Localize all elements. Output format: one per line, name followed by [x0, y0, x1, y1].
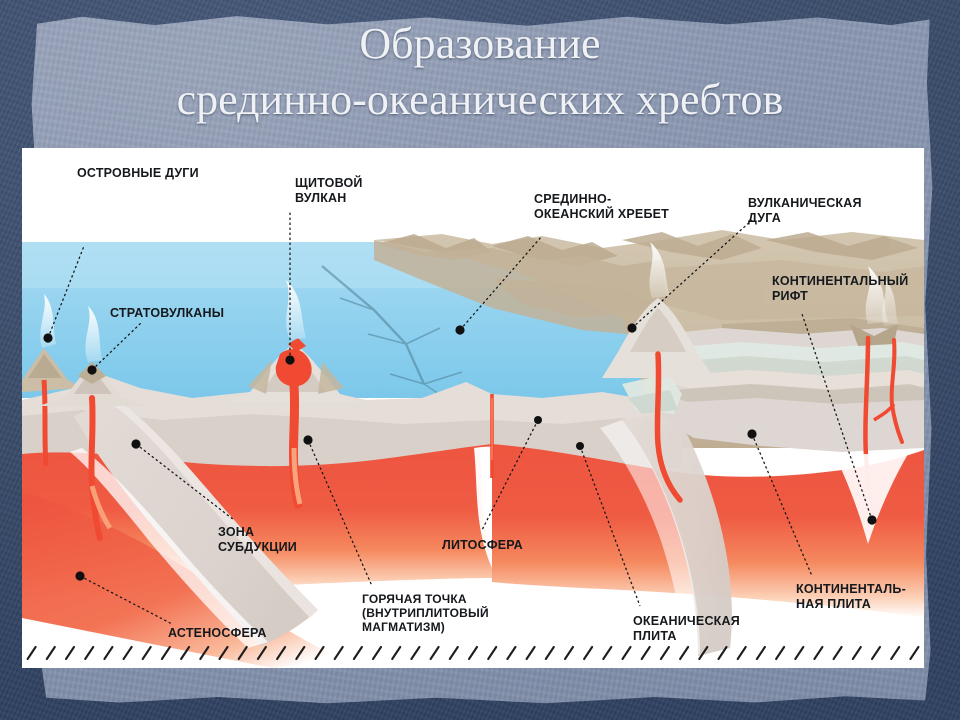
label-hot-spot: ГОРЯЧАЯ ТОЧКА (ВНУТРИПЛИТОВЫЙ МАГМАТИЗМ) [362, 592, 489, 634]
label-island-arcs: ОСТРОВНЫЕ ДУГИ [77, 166, 199, 181]
label-subduction-zone: ЗОНА СУБДУКЦИИ [218, 525, 297, 554]
slide-canvas: Образование срединно-океанических хребто… [0, 0, 960, 720]
label-continental-rift: КОНТИНЕНТАЛЬНЫЙ РИФТ [772, 274, 908, 303]
label-volcanic-arc: ВУЛКАНИЧЕСКАЯ ДУГА [748, 196, 862, 225]
page-title: Образование срединно-океанических хребто… [60, 16, 900, 128]
label-shield-volcano: ЩИТОВОЙ ВУЛКАН [295, 176, 363, 205]
label-lithosphere: ЛИТОСФЕРА [442, 538, 523, 553]
label-mid-ocean-ridge: СРЕДИННО- ОКЕАНСКИЙ ХРЕБЕТ [534, 192, 669, 221]
label-stratovolcanoes: СТРАТОВУЛКАНЫ [110, 306, 224, 321]
label-asthenosphere: АСТЕНОСФЕРА [168, 626, 267, 641]
plate-tectonics-diagram [22, 148, 924, 668]
diagram-figure-card: ОСТРОВНЫЕ ДУГИ СТРАТОВУЛКАНЫ ЩИТОВОЙ ВУЛ… [22, 148, 924, 668]
label-oceanic-plate: ОКЕАНИЧЕСКАЯ ПЛИТА [633, 614, 740, 643]
label-continental-plate: КОНТИНЕНТАЛЬ- НАЯ ПЛИТА [796, 582, 906, 611]
